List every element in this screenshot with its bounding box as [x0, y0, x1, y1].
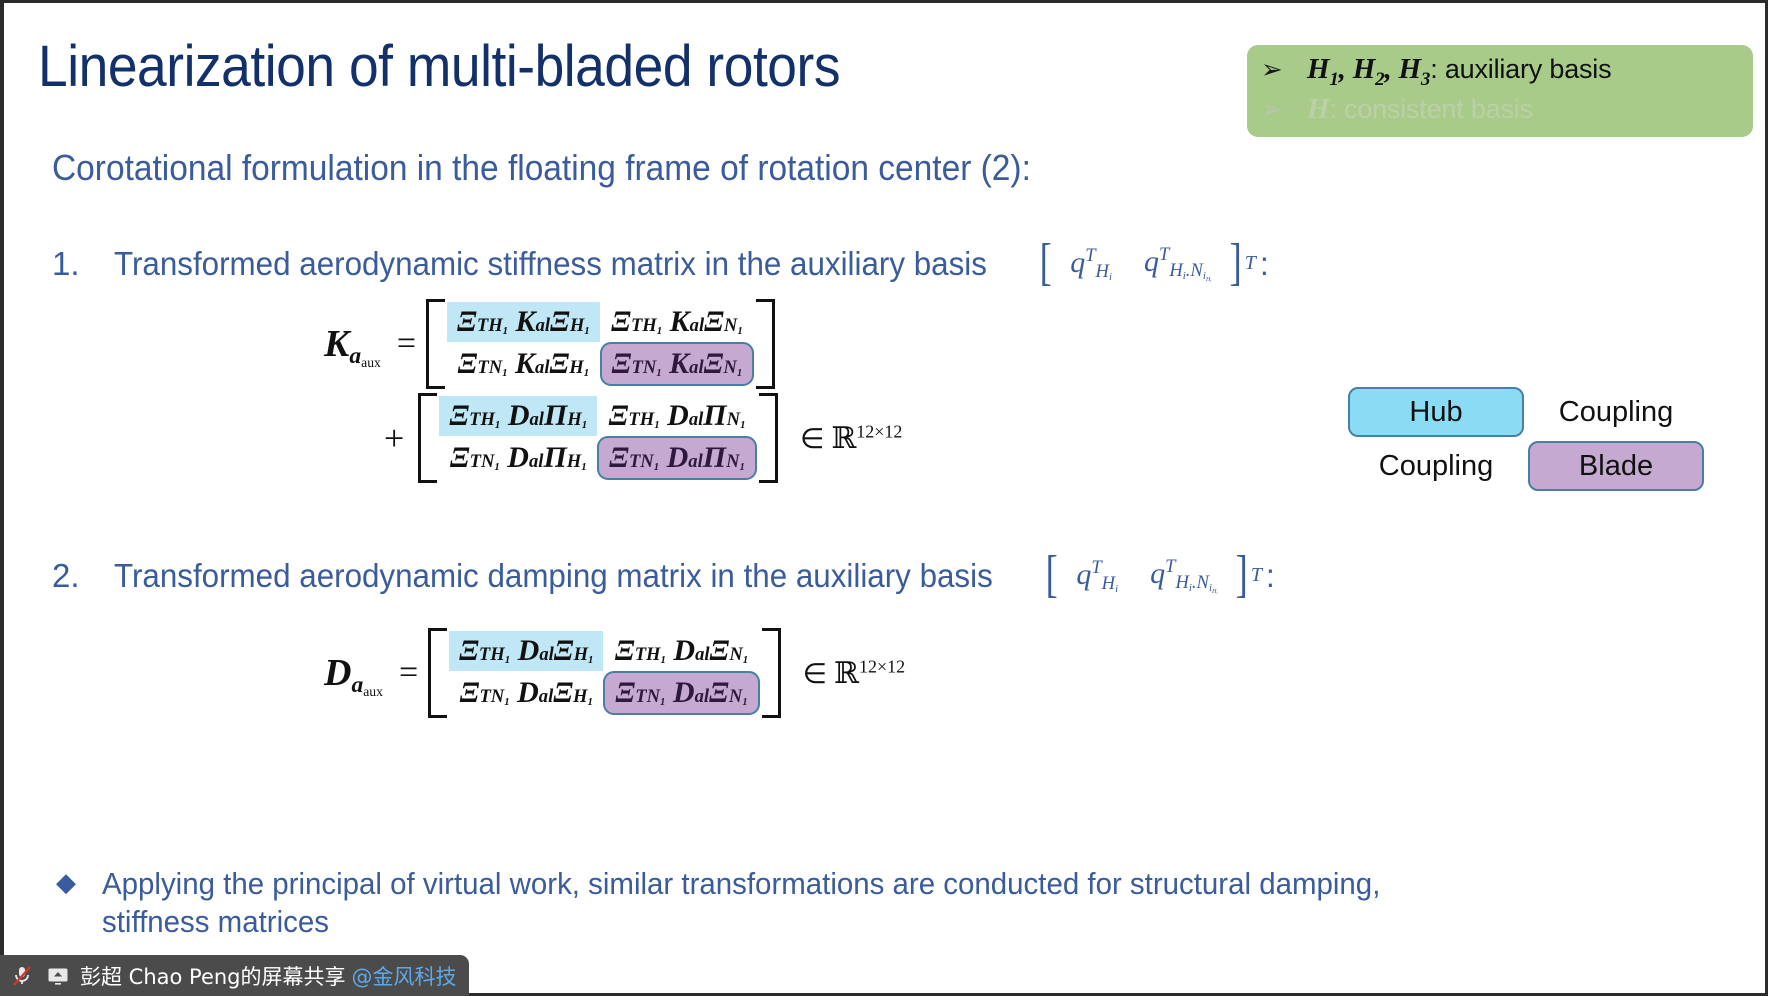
muted-microphone-icon[interactable]: [8, 962, 36, 990]
plus-sign: +: [384, 417, 404, 459]
bracket-left: [418, 393, 437, 483]
k-aux-dimension-annotation: ∈ ℝ12×12: [800, 421, 902, 456]
matrix-cell-blade-blade: ΞTN1 DalΞN1: [603, 671, 759, 715]
d-aux-matrix: ΞTH1 DalΞH1 ΞTH1 DalΞN1 ΞTN1 DalΞH1 ΞTN1…: [428, 628, 781, 718]
callout-label-auxiliary: : auxiliary basis: [1430, 54, 1611, 84]
item-2-text: Transformed aerodynamic damping matrix i…: [114, 557, 993, 595]
item-2-marker: 2.: [52, 557, 114, 595]
k-aux-matrix-1: ΞTH1 KalΞH1 ΞTH1 KalΞN1 ΞTN1 KalΞH1 ΞTN1…: [426, 299, 775, 389]
legend-coupling-top-right: Coupling: [1559, 396, 1673, 429]
equation-d-aux: Daaux = ΞTH1 DalΞH1 ΞTH1 DalΞN1 ΞTN1 Dal…: [324, 628, 905, 718]
matrix-cell-hub-hub: ΞTH1 DalΞH1: [449, 631, 603, 671]
bracket-right: [759, 393, 778, 483]
callout-text-auxiliary: H1, H2, H3: auxiliary basis: [1307, 53, 1611, 91]
item-1-vector-notation: [ qTHi qTHi.NiHi ]T: [1037, 242, 1256, 284]
numbered-item-2: 2. Transformed aerodynamic damping matri…: [52, 550, 1275, 595]
item-1-text: Transformed aerodynamic stiffness matrix…: [114, 245, 987, 283]
equals-sign: =: [397, 325, 416, 363]
matrix-cell-blade-blade: ΞTN1 KalΞN1: [600, 342, 755, 386]
item-2-colon: :: [1266, 557, 1275, 595]
screen-share-icon[interactable]: [44, 962, 72, 990]
summary-bullet: ◆ Applying the principal of virtual work…: [56, 865, 1536, 941]
bracket-left: [428, 628, 447, 718]
legend-hub-box: Hub: [1348, 387, 1524, 437]
matrix-block-legend: Hub Coupling Coupling Blade: [1346, 385, 1706, 493]
auxiliary-basis-callout: ➢ H1, H2, H3: auxiliary basis ➢ H: consi…: [1247, 45, 1753, 137]
bracket-right: [762, 628, 781, 718]
callout-symbol-consistent: H: [1307, 93, 1329, 125]
matrix-cell-hub-blade: ΞTH1 KalΞN1: [600, 302, 755, 342]
callout-text-consistent: H: consistent basis: [1307, 93, 1533, 126]
matrix-cell-blade-hub: ΞTN1 KalΞH1: [447, 344, 600, 384]
d-aux-dims: 12×12: [859, 656, 905, 676]
screen-share-label: 彭超 Chao Peng的屏幕共享: [80, 961, 346, 991]
screen-share-taskbar[interactable]: 彭超 Chao Peng的屏幕共享 @金风科技: [0, 955, 469, 996]
section-subtitle: Corotational formulation in the floating…: [52, 147, 1031, 189]
matrix-cell-blade-hub: ΞTN1 DalΠH1: [439, 438, 597, 478]
item-1-colon: :: [1260, 245, 1269, 283]
callout-label-consistent: : consistent basis: [1329, 94, 1533, 124]
matrix-cell-blade-blade: ΞTN1 DalΠN1: [597, 436, 757, 480]
matrix-cell-hub-blade: ΞTH1 DalΞN1: [603, 631, 759, 671]
diamond-bullet-icon: ◆: [56, 865, 102, 900]
equation-k-aux: Kaaux = ΞTH1 KalΞH1 ΞTH1 KalΞN1 ΞTN1 Kal…: [324, 299, 902, 483]
equals-sign: =: [399, 654, 418, 692]
matrix-cell-hub-hub: ΞTH1 KalΞH1: [447, 302, 600, 342]
k-aux-matrix-2: ΞTH1 DalΠH1 ΞTH1 DalΠN1 ΞTN1 DalΠH1 ΞTN1…: [418, 393, 778, 483]
real-space-symbol: ℝ: [831, 421, 856, 456]
k-aux-dims: 12×12: [856, 421, 902, 441]
matrix-cell-blade-hub: ΞTN1 DalΞH1: [449, 673, 603, 713]
item-1-marker: 1.: [52, 245, 114, 283]
equation-d-aux-lhs: Daaux: [324, 651, 383, 695]
legend-coupling-bottom-left: Coupling: [1379, 450, 1493, 483]
arrow-bullet-icon: ➢: [1261, 56, 1307, 82]
membership-symbol: ∈: [803, 659, 827, 690]
matrix-cell-hub-blade: ΞTH1 DalΠN1: [597, 396, 757, 436]
summary-bullet-text: Applying the principal of virtual work, …: [102, 865, 1464, 941]
bracket-left: [426, 299, 445, 389]
slide-canvas: Linearization of multi-bladed rotors ➢ H…: [0, 0, 1768, 996]
numbered-item-1: 1. Transformed aerodynamic stiffness mat…: [52, 238, 1269, 283]
arrow-bullet-icon: ➢: [1261, 96, 1307, 122]
matrix-cell-hub-hub: ΞTH1 DalΠH1: [439, 396, 597, 436]
membership-symbol: ∈: [800, 424, 824, 455]
item-2-vector-notation: [ qTHi qTHi.NiHi ]T: [1043, 554, 1262, 596]
page-title: Linearization of multi-bladed rotors: [38, 33, 840, 100]
legend-blade-box: Blade: [1528, 441, 1704, 491]
d-aux-dimension-annotation: ∈ ℝ12×12: [803, 656, 905, 691]
bracket-right: [756, 299, 775, 389]
callout-line-auxiliary: ➢ H1, H2, H3: auxiliary basis: [1261, 53, 1753, 93]
callout-line-consistent: ➢ H: consistent basis: [1261, 93, 1753, 133]
screen-share-org: @金风科技: [352, 961, 457, 991]
equation-k-aux-lhs: Kaaux: [324, 322, 381, 366]
real-space-symbol: ℝ: [834, 656, 859, 691]
